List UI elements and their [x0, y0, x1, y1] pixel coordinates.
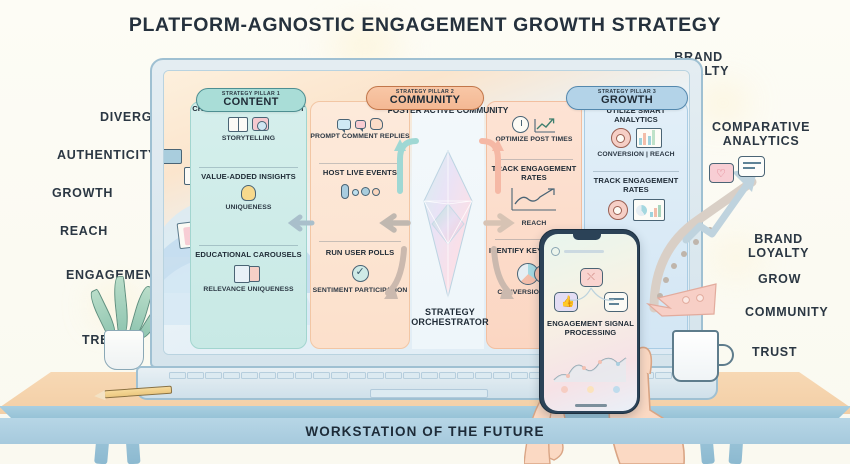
phone-home-indicator [575, 404, 607, 407]
keyword-label: AUTHENTICITY [57, 148, 157, 162]
trend-up-icon [534, 117, 556, 133]
keyboard-key[interactable] [187, 372, 204, 379]
pillar-header-growth[interactable]: STRATEGY PILLAR 3 GROWTH [566, 86, 688, 110]
line-chart-icon [509, 186, 559, 217]
video-camera-icon [163, 149, 182, 164]
keyboard-key[interactable] [259, 372, 276, 379]
list-item: TRACK ENGAGEMENT RATES REACH [486, 165, 582, 227]
item-footer: REACH [486, 220, 582, 227]
person-icon [372, 188, 380, 196]
item-icons [486, 186, 582, 217]
chat-bubble-icon [355, 120, 366, 129]
chat-bubble-icon [337, 119, 351, 130]
smartphone[interactable]: ⤬ 👍 ENGAGEMENT SIGNAL PROCESSING [539, 229, 640, 414]
keyword-label: TRUST [752, 345, 797, 359]
phone-metric-dots [552, 386, 629, 393]
item-footer: RELEVANCE UNIQUENESS [190, 286, 307, 293]
target-icon [608, 200, 628, 220]
metric-dot [613, 386, 620, 393]
glow-decoration [700, 88, 746, 118]
keyboard-key[interactable] [295, 372, 312, 379]
list-item: VALUE-ADDED INSIGHTS UNIQUENESS [190, 173, 307, 211]
plant-leaf [112, 276, 130, 335]
clock-icon [512, 116, 529, 133]
microphone-icon [341, 184, 349, 199]
metric-dot [561, 386, 568, 393]
banner-text: WORKSTATION OF THE FUTURE [305, 424, 544, 439]
keyboard-key[interactable] [439, 372, 456, 379]
metric-dot [587, 386, 594, 393]
item-icons [190, 117, 307, 132]
keyboard-key[interactable] [403, 372, 420, 379]
keyboard-key[interactable] [169, 372, 186, 379]
phone-screen[interactable]: ⤬ 👍 ENGAGEMENT SIGNAL PROCESSING [544, 234, 637, 411]
keyboard-key[interactable] [331, 372, 348, 379]
bottom-banner: WORKSTATION OF THE FUTURE [0, 418, 850, 444]
infographic-canvas: PLATFORM-AGNOSTIC ENGAGEMENT GROWTH STRA… [0, 0, 850, 464]
item-icons [190, 266, 307, 282]
list-item: EDUCATIONAL CAROUSELS RELEVANCE UNIQUENE… [190, 251, 307, 293]
pillar-name: COMMUNITY [371, 95, 479, 107]
clapping-hands-icon [370, 118, 383, 130]
carousel-cards-icon [238, 266, 260, 282]
item-heading: EDUCATIONAL CAROUSELS [190, 251, 307, 260]
keyboard-key[interactable] [349, 372, 366, 379]
list-item: OPTIMIZE POST TIMES [486, 113, 582, 143]
keyboard-key[interactable] [421, 372, 438, 379]
check-circle-icon [352, 265, 369, 282]
camera-icon [252, 117, 269, 131]
keyword-label: GROWTH [52, 186, 113, 200]
item-footer: OPTIMIZE POST TIMES [486, 136, 582, 143]
community-column-items: PROMPT COMMENT REPLIES HOST LIVE EVENTS … [310, 101, 410, 349]
pillar-header-community[interactable]: STRATEGY PILLAR 2 COMMUNITY [366, 86, 484, 110]
pillar-name: GROWTH [571, 95, 683, 107]
list-item: PROMPT COMMENT REPLIES [310, 115, 410, 140]
keyboard-key[interactable] [241, 372, 258, 379]
pillar-name: CONTENT [201, 97, 301, 109]
divider [319, 241, 401, 242]
item-footer: STORYTELLING [190, 135, 307, 142]
item-icons [486, 116, 582, 133]
divider [199, 167, 298, 168]
plant-pot [104, 330, 144, 370]
divider [199, 245, 298, 246]
item-icons [310, 265, 410, 282]
heart-reaction-icon: ♡ [709, 163, 734, 183]
item-heading: HOST LIVE EVENTS [310, 169, 410, 178]
target-icon [611, 128, 631, 148]
list-item: RUN USER POLLS SENTIMENT PARTICIPATION [310, 249, 410, 294]
laptop-trackpad[interactable] [370, 389, 488, 398]
item-icons [190, 185, 307, 201]
item-footer: UNIQUENESS [190, 204, 307, 211]
people-group-icon [352, 187, 380, 196]
person-icon [361, 187, 370, 196]
keyboard-key[interactable] [457, 372, 474, 379]
engagement-line-chart [552, 352, 629, 384]
item-icons [310, 118, 410, 130]
divider [319, 163, 401, 164]
item-heading: TRACK ENGAGEMENT RATES [486, 165, 582, 182]
item-footer: PROMPT COMMENT REPLIES [310, 133, 410, 140]
item-footer: SENTIMENT PARTICIPATION [310, 287, 410, 294]
keyboard-key[interactable] [385, 372, 402, 379]
phone-notch [573, 234, 601, 240]
pillar-header-content[interactable]: STRATEGY PILLAR 1 CONTENT [196, 88, 306, 112]
keyboard-key[interactable] [223, 372, 240, 379]
list-item: HOST LIVE EVENTS [310, 169, 410, 202]
keyboard-key[interactable] [205, 372, 222, 379]
keyword-label: REACH [60, 224, 108, 238]
item-heading: RUN USER POLLS [310, 249, 410, 258]
prism-crystal-icon [422, 149, 474, 299]
item-icons [310, 184, 410, 199]
phone-title: ENGAGEMENT SIGNAL PROCESSING [547, 320, 634, 338]
keyboard-key[interactable] [313, 372, 330, 379]
keyboard-key[interactable] [493, 372, 510, 379]
orchestrator-label: STRATEGY ORCHESTRATOR [400, 307, 500, 328]
person-icon [352, 189, 359, 196]
comment-bubble-icon [738, 156, 765, 177]
item-heading: VALUE-ADDED INSIGHTS [190, 173, 307, 182]
keyboard-key[interactable] [475, 372, 492, 379]
page-title: PLATFORM-AGNOSTIC ENGAGEMENT GROWTH STRA… [0, 14, 850, 37]
lightbulb-icon [241, 185, 256, 201]
keyboard-key[interactable] [367, 372, 384, 379]
content-column-items: CRAFT AUTHENTIC CONTENT STORYTELLING VAL… [190, 101, 307, 349]
keyboard-key[interactable] [277, 372, 294, 379]
divider [495, 159, 573, 160]
book-icon [228, 117, 248, 132]
